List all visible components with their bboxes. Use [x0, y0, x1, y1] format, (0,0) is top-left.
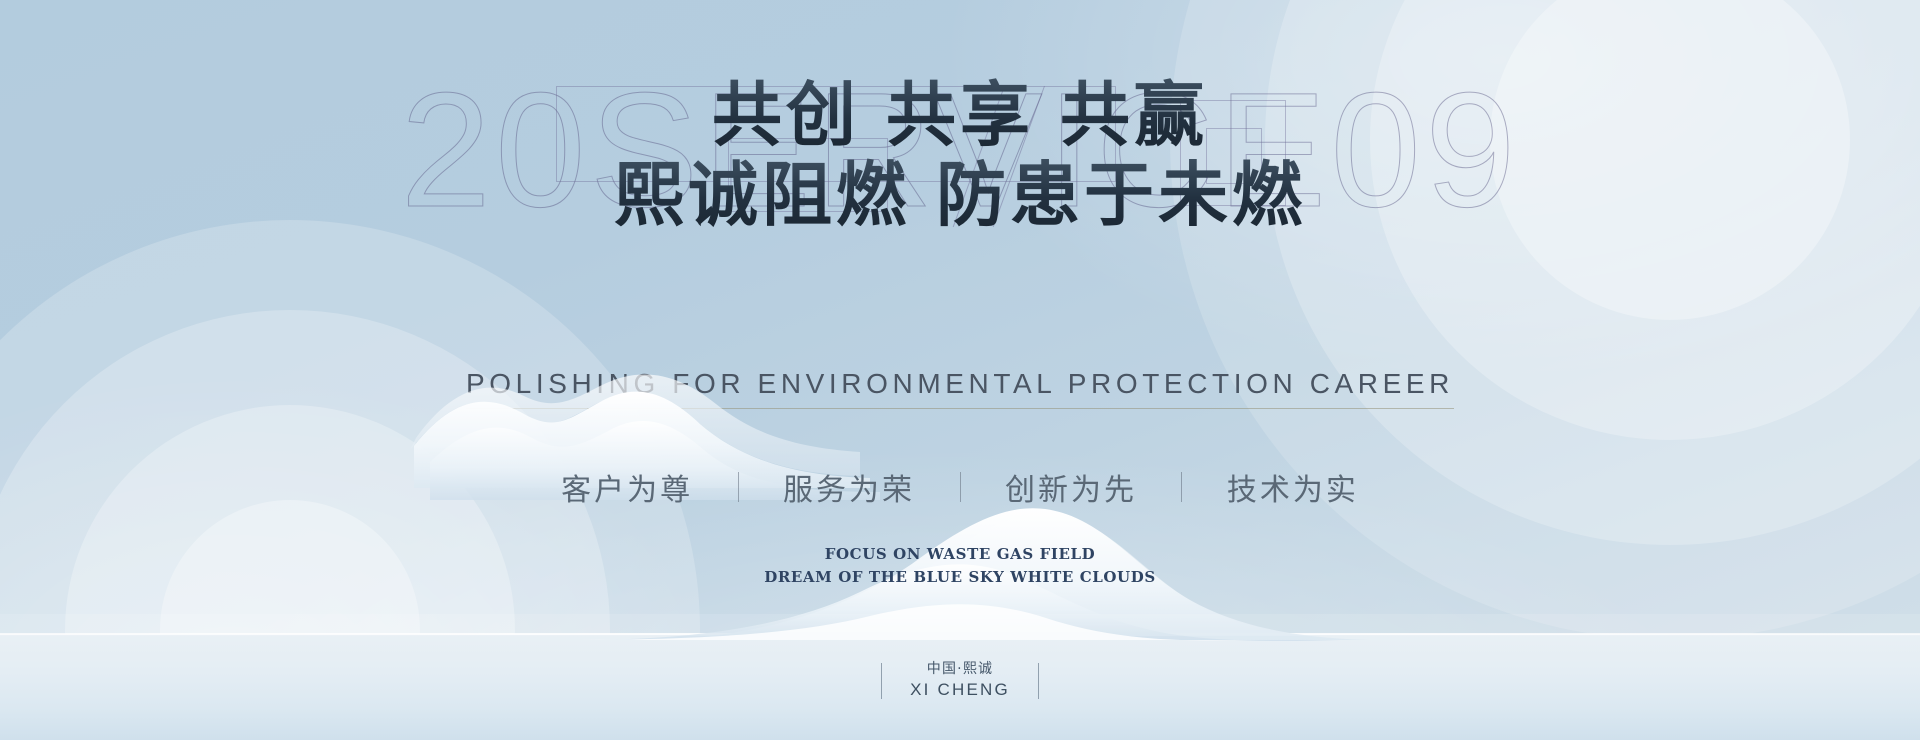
value-separator	[960, 472, 961, 502]
value-item-4: 技术为实	[1227, 465, 1359, 509]
tagline-text: POLISHING FOR ENVIRONMENTAL PROTECTION C…	[466, 368, 1454, 409]
horizon-line	[0, 633, 1920, 635]
headline-line-2: 熙诚阻燃防患于未燃	[0, 158, 1920, 232]
signature-text: 中国·熙诚 XI CHENG	[910, 660, 1010, 702]
tagline-block: POLISHING FOR ENVIRONMENTAL PROTECTION C…	[0, 368, 1920, 409]
subline-block: FOCUS ON WASTE GAS FIELD DREAM OF THE BL…	[0, 545, 1920, 586]
signature-bar-left	[881, 663, 882, 699]
headline-word-1: 共创	[712, 73, 860, 156]
promo-banner: 20SERVICE09 共创共享共赢 熙诚阻燃防患于未燃 POLISHING F…	[0, 0, 1920, 740]
signature-inner: 中国·熙诚 XI CHENG	[881, 660, 1039, 702]
headline-word-5: 防患于未燃	[936, 153, 1306, 236]
subline-1: FOCUS ON WASTE GAS FIELD	[0, 545, 1920, 563]
values-row: 客户为尊 服务为荣 创新为先 技术为实	[0, 465, 1920, 509]
signature-block: 中国·熙诚 XI CHENG	[0, 660, 1920, 704]
value-separator	[1181, 472, 1182, 502]
subline-2: DREAM OF THE BLUE SKY WHITE CLOUDS	[0, 568, 1920, 586]
signature-english: XI CHENG	[910, 679, 1010, 702]
value-item-3: 创新为先	[1005, 465, 1137, 509]
headline-word-4: 熙诚阻燃	[614, 153, 910, 236]
signature-bar-right	[1038, 663, 1039, 699]
headline-word-3: 共赢	[1060, 73, 1208, 156]
headline-line-1: 共创共享共赢	[0, 78, 1920, 152]
headline-block: 共创共享共赢 熙诚阻燃防患于未燃	[0, 78, 1920, 231]
value-item-2: 服务为荣	[783, 465, 915, 509]
value-item-1: 客户为尊	[561, 465, 693, 509]
value-separator	[738, 472, 739, 502]
signature-chinese: 中国·熙诚	[910, 660, 1010, 679]
headline-word-2: 共享	[886, 73, 1034, 156]
